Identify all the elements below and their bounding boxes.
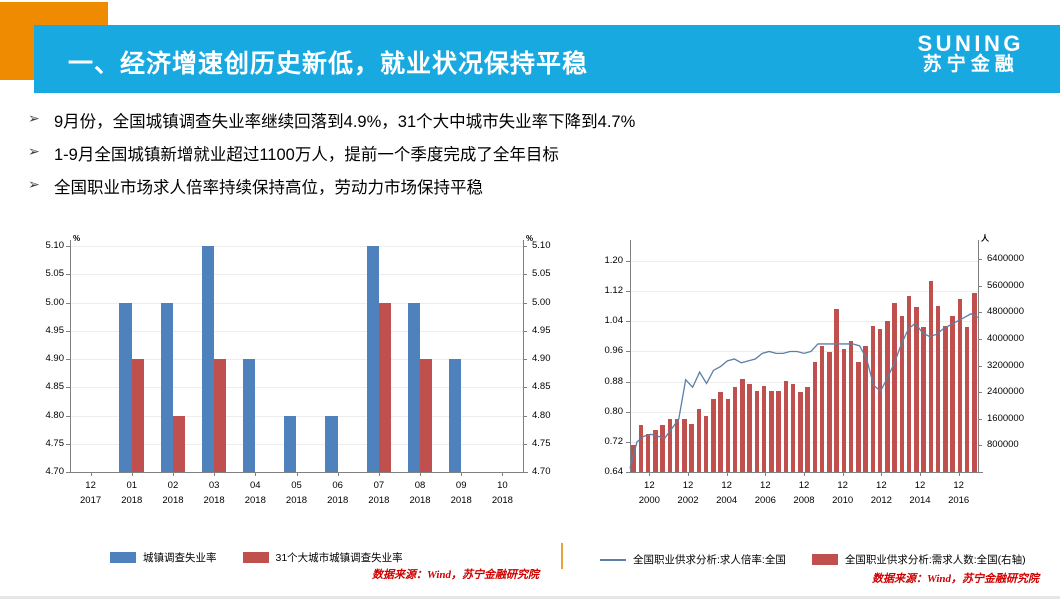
y-axis-tick-label-left: 0.64	[596, 466, 623, 477]
legend-item: 全国职业供求分析:需求人数:全国(右轴)	[812, 552, 1026, 567]
x-axis-tick	[843, 472, 844, 476]
x-axis-tick-year: 2018	[151, 495, 195, 506]
y-axis-right	[978, 240, 979, 472]
brand-name-cn: 苏宁金融	[917, 55, 1024, 75]
chart-bar	[689, 424, 693, 472]
x-axis-tick-year: 2018	[275, 495, 319, 506]
list-item: ➢ 1-9月全国城镇新增就业超过1100万人，提前一个季度完成了全年目标	[28, 141, 1028, 165]
chart-gridline	[70, 274, 523, 275]
y-axis-tick-label-right: 5600000	[987, 280, 1024, 291]
x-axis-tick	[727, 472, 728, 476]
y-axis-tick-label-left: 1.20	[596, 255, 623, 266]
legend-item: 城镇调查失业率	[110, 550, 217, 565]
chart-bar	[965, 327, 969, 472]
chart-bar	[284, 416, 296, 473]
legend-swatch	[243, 552, 269, 563]
x-axis-tick	[688, 472, 689, 476]
list-item: ➢ 全国职业市场求人倍率持续保持高位，劳动力市场保持平稳	[28, 174, 1028, 198]
chart-bar	[863, 346, 867, 472]
brand-name-en: SUNING	[917, 32, 1024, 55]
x-axis-tick-year: 2018	[110, 495, 154, 506]
chart-bar	[784, 381, 788, 472]
chart-gridline	[630, 321, 978, 322]
y-axis-tick-label-right: 2400000	[987, 386, 1024, 397]
chart-bar	[214, 359, 226, 472]
chart-bar	[900, 316, 904, 472]
y-axis-tick-label-left: 4.95	[26, 325, 64, 336]
chart-bar	[367, 246, 379, 472]
y-axis-tick-label-left: 4.75	[26, 438, 64, 449]
x-axis-tick-label: 12	[937, 480, 981, 491]
slide-root: 一、经济增速创历史新低，就业状况保持平稳 SUNING 苏宁金融 ➢ 9月份，全…	[0, 0, 1060, 599]
chart-bar	[668, 419, 672, 472]
page-title: 一、经济增速创历史新低，就业状况保持平稳	[68, 44, 588, 80]
chart-bar	[449, 359, 461, 472]
x-axis-tick	[649, 472, 650, 476]
bullet-list: ➢ 9月份，全国城镇调查失业率继续回落到4.9%，31个大中城市失业率下降到4.…	[28, 108, 1028, 207]
chart-bar	[755, 391, 759, 472]
chart-bar	[907, 296, 911, 472]
y-axis-unit-right: %	[526, 234, 533, 243]
chart-bar	[202, 246, 214, 472]
chart-bar	[704, 416, 708, 473]
chart-job-supply-demand-legend: 全国职业供求分析:求人倍率:全国全国职业供求分析:需求人数:全国(右轴)	[600, 552, 1052, 567]
x-axis-tick	[173, 472, 174, 476]
x-axis-tick-label: 12	[666, 480, 710, 491]
x-axis-tick-year: 2014	[898, 495, 942, 506]
chart-bar	[791, 384, 795, 472]
chart-bar	[842, 349, 846, 472]
x-axis-tick-label: 12	[743, 480, 787, 491]
legend-label: 城镇调查失业率	[143, 550, 217, 565]
chart-bar	[943, 326, 947, 472]
y-axis-tick-label-left: 1.12	[596, 285, 623, 296]
chart-bar	[798, 392, 802, 472]
legend-label: 全国职业供求分析:需求人数:全国(右轴)	[845, 552, 1026, 567]
chart-job-supply-demand: 0.640.720.800.880.961.041.121.2080000016…	[596, 232, 1056, 532]
x-axis-tick-label: 08	[398, 480, 442, 491]
x-axis-tick-year: 2018	[398, 495, 442, 506]
chart-bar	[921, 327, 925, 472]
x-axis-tick-label: 12	[782, 480, 826, 491]
chart-bar	[726, 399, 730, 472]
y-axis-tick-label-left: 0.80	[596, 406, 623, 417]
x-axis-tick	[297, 472, 298, 476]
y-axis-tick-label-left: 5.10	[26, 240, 64, 251]
y-axis-tick-label-left: 5.00	[26, 297, 64, 308]
chart-gridline	[630, 291, 978, 292]
legend-swatch	[110, 552, 136, 563]
x-axis-tick-year: 2018	[480, 495, 524, 506]
x-axis-tick-year: 2018	[357, 495, 401, 506]
divider-tick	[561, 543, 563, 569]
y-axis-tick-label-left: 4.80	[26, 410, 64, 421]
chart-bar	[119, 303, 131, 473]
arrow-bullet-icon: ➢	[28, 108, 54, 127]
chart-bar	[871, 326, 875, 472]
y-axis-tick-label-left: 4.90	[26, 353, 64, 364]
chart-bar	[813, 362, 817, 472]
x-axis-tick-label: 09	[439, 480, 483, 491]
bullet-text: 9月份，全国城镇调查失业率继续回落到4.9%，31个大中城市失业率下降到4.7%	[54, 108, 635, 132]
x-axis-tick-label: 02	[151, 480, 195, 491]
x-axis-tick-year: 2017	[69, 495, 113, 506]
chart-bar	[885, 321, 889, 472]
chart-bar	[639, 425, 643, 472]
chart-bar	[325, 416, 337, 473]
chart-bar	[379, 303, 391, 473]
chart-bar	[769, 391, 773, 472]
x-axis-tick-label: 12	[69, 480, 113, 491]
chart-bar	[747, 384, 751, 472]
x-axis-tick-year: 2000	[627, 495, 671, 506]
x-axis-tick-year: 2012	[859, 495, 903, 506]
legend-item: 31个大城市城镇调查失业率	[243, 550, 403, 565]
chart-bar	[929, 281, 933, 472]
chart-bar	[834, 309, 838, 472]
x-axis-tick-label: 01	[110, 480, 154, 491]
legend-label: 31个大城市城镇调查失业率	[276, 550, 403, 565]
suning-logo: SUNING 苏宁金融	[917, 32, 1024, 75]
x-axis-tick-label: 12	[821, 480, 865, 491]
legend-item: 全国职业供求分析:求人倍率:全国	[600, 552, 786, 567]
x-axis-tick	[214, 472, 215, 476]
chart-bar	[675, 419, 679, 472]
chart-bar	[856, 362, 860, 472]
chart-bar	[820, 346, 824, 472]
y-axis-tick-label-left: 0.96	[596, 345, 623, 356]
y-axis-tick-label-right: 5.05	[532, 268, 551, 279]
y-axis-tick-label-right: 4.85	[532, 381, 551, 392]
y-axis-unit-right: 人	[981, 233, 989, 244]
y-axis-unit-left: %	[73, 234, 80, 243]
x-axis-tick	[959, 472, 960, 476]
legend-swatch	[812, 554, 838, 565]
y-axis-tick-label-right: 3200000	[987, 360, 1024, 371]
y-axis-tick-label-left: 5.05	[26, 268, 64, 279]
chart-bar	[776, 391, 780, 472]
x-axis-tick	[420, 472, 421, 476]
x-axis-tick	[255, 472, 256, 476]
chart-unemployment-legend: 城镇调查失业率31个大城市城镇调查失业率	[110, 550, 429, 565]
legend-swatch-line	[600, 559, 626, 561]
chart-bar	[914, 307, 918, 472]
x-axis-tick-label: 07	[357, 480, 401, 491]
y-axis-left	[630, 240, 631, 472]
x-axis-tick-year: 2018	[439, 495, 483, 506]
list-item: ➢ 9月份，全国城镇调查失业率继续回落到4.9%，31个大中城市失业率下降到4.…	[28, 108, 1028, 132]
chart-bar	[631, 445, 635, 472]
source-note-left: 数据来源：Wind，苏宁金融研究院	[372, 566, 539, 582]
y-axis-tick-label-right: 4.95	[532, 325, 551, 336]
source-note-right: 数据来源：Wind，苏宁金融研究院	[872, 570, 1039, 586]
chart-gridline	[70, 303, 523, 304]
top-strip	[108, 0, 1060, 4]
y-axis-tick-label-right: 4.80	[532, 410, 551, 421]
chart-bar	[950, 316, 954, 472]
bullet-text: 1-9月全国城镇新增就业超过1100万人，提前一个季度完成了全年目标	[54, 141, 559, 165]
x-axis-tick-year: 2018	[316, 495, 360, 506]
chart-bar	[646, 434, 650, 472]
x-axis-tick	[765, 472, 766, 476]
chart-gridline	[70, 246, 523, 247]
chart-bar	[660, 425, 664, 472]
chart-bar	[711, 399, 715, 472]
legend-label: 全国职业供求分析:求人倍率:全国	[633, 552, 786, 567]
x-axis-tick-year: 2006	[743, 495, 787, 506]
y-axis-tick-label-right: 4000000	[987, 333, 1024, 344]
x-axis-tick	[132, 472, 133, 476]
x-axis-tick-label: 12	[859, 480, 903, 491]
x-axis-tick	[338, 472, 339, 476]
x-axis-tick-label: 04	[233, 480, 277, 491]
y-axis-tick-label-right: 4.90	[532, 353, 551, 364]
y-axis-tick-label-right: 4.75	[532, 438, 551, 449]
y-axis-tick-label-right: 5.10	[532, 240, 551, 251]
chart-bar	[878, 329, 882, 472]
chart-bar	[805, 387, 809, 472]
chart-bar	[697, 409, 701, 472]
chart-bar	[972, 293, 976, 472]
chart-bar	[827, 352, 831, 472]
chart-bar	[958, 299, 962, 472]
x-axis-tick-label: 10	[480, 480, 524, 491]
y-axis-tick-label-right: 800000	[987, 439, 1019, 450]
x-axis-tick-year: 2018	[192, 495, 236, 506]
chart-gridline	[70, 331, 523, 332]
x-axis-tick	[920, 472, 921, 476]
y-axis-tick-label-right: 1600000	[987, 413, 1024, 424]
y-axis-tick-label-left: 1.04	[596, 315, 623, 326]
y-axis-tick-label-left: 4.85	[26, 381, 64, 392]
chart-bar	[892, 303, 896, 473]
x-axis-tick-label: 03	[192, 480, 236, 491]
x-axis-tick-year: 2008	[782, 495, 826, 506]
x-axis-tick-label: 06	[316, 480, 360, 491]
chart-bar	[408, 303, 420, 473]
chart-bar	[173, 416, 185, 473]
x-axis-tick-label: 12	[898, 480, 942, 491]
y-axis-left	[70, 240, 71, 472]
x-axis-tick-year: 2004	[705, 495, 749, 506]
chart-bar	[718, 392, 722, 472]
chart-unemployment-rate: 4.704.704.754.754.804.804.854.854.904.90…	[24, 232, 569, 532]
chart-bar	[243, 359, 255, 472]
chart-bar	[682, 419, 686, 472]
x-axis-tick	[502, 472, 503, 476]
chart-bar	[740, 379, 744, 472]
y-axis-tick-label-right: 4800000	[987, 306, 1024, 317]
chart-bar	[849, 341, 853, 472]
x-axis-tick-year: 2010	[821, 495, 865, 506]
y-axis-right	[523, 240, 524, 472]
x-axis-tick-year: 2018	[233, 495, 277, 506]
x-axis-tick	[379, 472, 380, 476]
y-axis-tick-label-left: 0.72	[596, 436, 623, 447]
y-axis-tick-label-right: 5.00	[532, 297, 551, 308]
arrow-bullet-icon: ➢	[28, 174, 54, 193]
x-axis-tick	[91, 472, 92, 476]
y-axis-tick-label-left: 4.70	[26, 466, 64, 477]
y-axis-tick-label-right: 4.70	[532, 466, 551, 477]
x-axis-tick-label: 12	[627, 480, 671, 491]
chart-bar	[132, 359, 144, 472]
chart-bar	[762, 386, 766, 472]
chart-bar	[161, 303, 173, 473]
x-axis-tick-label: 12	[705, 480, 749, 491]
chart-bar	[733, 387, 737, 472]
x-axis-tick	[461, 472, 462, 476]
arrow-bullet-icon: ➢	[28, 141, 54, 160]
x-axis-tick-year: 2016	[937, 495, 981, 506]
chart-gridline	[630, 261, 978, 262]
chart-bar	[936, 306, 940, 472]
bullet-text: 全国职业市场求人倍率持续保持高位，劳动力市场保持平稳	[54, 174, 483, 198]
chart-bar	[653, 430, 657, 472]
x-axis-tick	[881, 472, 882, 476]
chart-bar	[420, 359, 432, 472]
y-axis-tick-label-left: 0.88	[596, 376, 623, 387]
x-axis-tick-year: 2002	[666, 495, 710, 506]
x-axis-tick	[804, 472, 805, 476]
y-axis-tick-label-right: 6400000	[987, 253, 1024, 264]
x-axis-tick-label: 05	[275, 480, 319, 491]
